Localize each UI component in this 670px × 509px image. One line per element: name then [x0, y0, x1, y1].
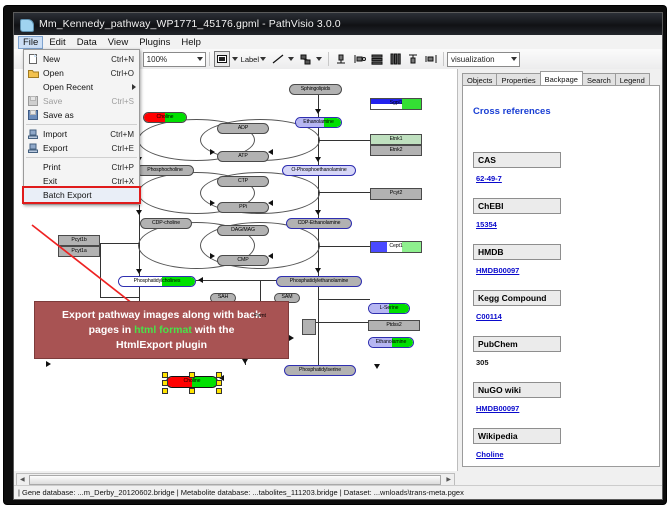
- pathvisio-icon: [20, 18, 33, 31]
- node-label: ADP: [238, 126, 248, 131]
- node-ppi[interactable]: PPi: [217, 202, 269, 213]
- node-label: Pemt: [254, 314, 266, 319]
- node-label: Pcyt2: [390, 191, 402, 196]
- window-title: Mm_Kennedy_pathway_WP1771_45176.gpml - P…: [39, 18, 341, 30]
- chevron-down-icon: [511, 57, 517, 61]
- node-label: CMP: [237, 258, 248, 263]
- node-pcyt2[interactable]: Pcyt2: [370, 188, 422, 200]
- xref-value-link[interactable]: Choline: [476, 450, 504, 459]
- menu-item-print[interactable]: Print Ctrl+P: [24, 160, 139, 174]
- menu-item-label: New: [43, 54, 111, 64]
- node-phosphatidylserine[interactable]: Phosphatidylserine: [284, 365, 356, 376]
- align-top-icon[interactable]: [333, 51, 349, 67]
- callout-line-2a: pages in: [89, 324, 135, 336]
- interaction-tool-icon[interactable]: [298, 51, 314, 67]
- annotation-callout: Export pathway images along with back pa…: [34, 301, 289, 359]
- selection-handle[interactable]: [162, 372, 168, 378]
- node-choline[interactable]: Choline: [143, 112, 187, 123]
- menu-item-label: Import: [43, 129, 110, 139]
- backpage-title: Cross references: [473, 106, 551, 117]
- xref-cas: CAS 62-49-7: [473, 152, 561, 186]
- tab-backpage[interactable]: Backpage: [540, 71, 583, 86]
- arrow-to-phosphatidylserine: [242, 359, 248, 364]
- node-atp[interactable]: ATP: [217, 151, 269, 162]
- xref-name: HMDB: [473, 244, 561, 260]
- arrow-ope-to-cdpetn: [315, 210, 321, 215]
- xref-name: Wikipedia: [473, 428, 561, 444]
- menu-plugins[interactable]: Plugins: [134, 36, 175, 49]
- node-ethanolamine-2[interactable]: Ethanolamine: [368, 337, 414, 348]
- menu-view[interactable]: View: [103, 36, 133, 49]
- xref-name: PubChem: [473, 336, 561, 352]
- node-label: Phosphatidylserine: [299, 368, 341, 373]
- node-label: Choline: [184, 379, 201, 384]
- arrow-pe-branch: [374, 364, 380, 369]
- window-outer-frame: Mm_Kennedy_pathway_WP1771_45176.gpml - P…: [4, 6, 666, 504]
- node-label: CTP: [238, 179, 248, 184]
- node-label: Ethanolamine: [376, 340, 407, 345]
- xref-value-link[interactable]: 15354: [476, 220, 497, 229]
- arrow-cdpetn-to-pe: [315, 268, 321, 273]
- node-label: Phosphatidylethanolamine: [290, 279, 348, 284]
- node-label: Sgpl1: [390, 101, 403, 106]
- blank-icon: [27, 82, 39, 93]
- status-bar-text: | Gene database: ...m_Derby_20120602.bri…: [18, 488, 464, 497]
- callout-line-3: HtmlExport plugin: [62, 338, 261, 353]
- arrow-into-ppi-left: [210, 200, 215, 206]
- node-label: Pcyt1b: [71, 238, 86, 243]
- label-tool-button[interactable]: Label: [241, 55, 259, 64]
- backpage-content: Cross references CAS 62-49-7 ChEBI 15354…: [462, 85, 660, 467]
- menu-data[interactable]: Data: [72, 36, 102, 49]
- status-bar: | Gene database: ...m_Derby_20120602.bri…: [14, 485, 663, 499]
- node-ptdss2[interactable]: Ptdss2: [368, 320, 420, 331]
- node-etnk2[interactable]: Etnk2: [370, 145, 422, 156]
- zoom-value: 100%: [147, 55, 167, 64]
- import-icon: [27, 129, 39, 140]
- blank-icon: [27, 176, 39, 187]
- selection-handle[interactable]: [216, 372, 222, 378]
- menu-item-accel: Ctrl+X: [112, 177, 136, 186]
- selection-handle[interactable]: [189, 388, 195, 394]
- visualization-combobox[interactable]: visualization: [447, 52, 520, 67]
- xref-wikipedia: Wikipedia Choline: [473, 428, 561, 462]
- menu-edit[interactable]: Edit: [44, 36, 70, 49]
- align-left-icon[interactable]: [351, 51, 367, 67]
- arrow-to-ethanolamine-2: [289, 335, 294, 341]
- node-o-phosphoethanolamine[interactable]: O-Phosphoethanolamine: [282, 165, 356, 176]
- export-icon: [27, 143, 39, 154]
- arrow-into-atp-left: [210, 149, 215, 155]
- node-label: L-Serine: [380, 306, 399, 311]
- node-etnk1[interactable]: Etnk1: [370, 134, 422, 145]
- submenu-arrow-icon: [132, 84, 136, 90]
- chevron-down-icon: [197, 57, 203, 61]
- node-cmp[interactable]: CMP: [217, 255, 269, 266]
- node-ctp[interactable]: CTP: [217, 176, 269, 187]
- xref-name: NuGO wiki: [473, 382, 561, 398]
- callout-html-format: html format: [134, 324, 192, 336]
- node-phosphocholine[interactable]: Phosphocholine: [136, 165, 194, 176]
- node-label: Etnk1: [390, 137, 403, 142]
- side-panel-tabs: Objects Properties Backpage Search Legen…: [462, 72, 660, 86]
- xref-value-text: 305: [476, 358, 489, 367]
- application-window: Mm_Kennedy_pathway_WP1771_45176.gpml - P…: [13, 12, 663, 500]
- file-menu-popup[interactable]: New Ctrl+N Open Ctrl+O Open Recent Save …: [23, 49, 140, 205]
- node-label: ATP: [238, 154, 247, 159]
- node-choline-selected[interactable]: Choline: [166, 376, 218, 388]
- stack-center-y-icon[interactable]: [387, 51, 403, 67]
- connector-sgpl1: [318, 140, 370, 141]
- selection-handle[interactable]: [216, 388, 222, 394]
- node-label: Ptdss2: [386, 323, 401, 328]
- xref-name: Kegg Compound: [473, 290, 561, 306]
- node-label: Choline: [157, 115, 174, 120]
- xref-value-link[interactable]: HMDB00097: [476, 266, 519, 275]
- node-adp[interactable]: ADP: [217, 123, 269, 134]
- selection-handle[interactable]: [162, 388, 168, 394]
- new-document-icon: [27, 54, 39, 65]
- menu-item-label: Open: [43, 68, 111, 78]
- menu-item-save-as[interactable]: Save as: [24, 108, 139, 122]
- zoom-combobox[interactable]: 100%: [143, 52, 206, 67]
- menu-item-exit[interactable]: Exit Ctrl+X: [24, 174, 139, 188]
- connector-etnk: [318, 192, 370, 193]
- selection-handle[interactable]: [162, 380, 168, 386]
- xref-chebi: ChEBI 15354: [473, 198, 561, 232]
- node-label: CDP-Ethanolamine: [298, 221, 341, 226]
- selection-handle[interactable]: [216, 380, 222, 386]
- node-cept1[interactable]: Cept1: [370, 241, 422, 253]
- callout-line-1: Export pathway images along with back: [62, 308, 261, 323]
- selection-handle[interactable]: [189, 372, 195, 378]
- screenshot-root: Mm_Kennedy_pathway_WP1771_45176.gpml - P…: [0, 0, 670, 509]
- menu-item-export[interactable]: Export Ctrl+E: [24, 141, 139, 155]
- menu-item-accel: Ctrl+O: [111, 69, 136, 78]
- menu-item-batch-export[interactable]: Batch Export: [24, 188, 139, 202]
- arrow-phosphocholine-to-cdpcholine: [136, 210, 142, 215]
- node-sphingolipids[interactable]: Sphingolipids: [289, 84, 342, 95]
- node-label: SAM: [282, 295, 293, 300]
- menu-item-accel: Ctrl+E: [112, 144, 136, 153]
- chevron-down-icon[interactable]: [232, 57, 238, 61]
- node-label: CDP-choline: [152, 221, 180, 226]
- menu-item-accel: Ctrl+N: [111, 55, 136, 64]
- align-right-icon[interactable]: [423, 51, 439, 67]
- xref-hmdb: HMDB HMDB00097: [473, 244, 561, 278]
- menu-item-label: Exit: [43, 176, 112, 186]
- scroll-right-arrow-icon[interactable]: ▶: [446, 476, 451, 483]
- chevron-down-icon[interactable]: [316, 57, 322, 61]
- blank-icon: [27, 190, 39, 201]
- menu-bar: File Edit Data View Plugins Help: [14, 35, 663, 50]
- arrow-to-ps: [46, 361, 51, 367]
- scrollbar-thumb[interactable]: [29, 475, 441, 485]
- save-icon: [27, 96, 39, 107]
- node-cdp-ethanolamine[interactable]: CDP-Ethanolamine: [286, 218, 352, 229]
- connector-ptdss2: [316, 322, 370, 323]
- xref-name: CAS: [473, 152, 561, 168]
- xref-value-link[interactable]: HMDB00097: [476, 404, 519, 413]
- xref-kegg-compound: Kegg Compound C00114: [473, 290, 561, 324]
- node-label: SAH: [218, 295, 228, 300]
- node-label: Sphingolipids: [301, 87, 331, 92]
- node-label: PPi: [239, 205, 247, 210]
- node-label: Phosphatidylcholines: [134, 279, 181, 284]
- chevron-down-icon[interactable]: [260, 57, 266, 61]
- title-bar: Mm_Kennedy_pathway_WP1771_45176.gpml - P…: [14, 13, 662, 35]
- node-sgpl1[interactable]: Sgpl1: [370, 98, 422, 110]
- node-ethanolamine-1[interactable]: Ethanolamine: [295, 117, 342, 128]
- xref-name: ChEBI: [473, 198, 561, 214]
- connector-pcyt2: [318, 246, 370, 247]
- menu-file[interactable]: File: [18, 36, 43, 49]
- menu-item-label: Batch Export: [43, 190, 136, 200]
- arrow-ethanolamine-to-ope: [315, 157, 321, 162]
- menu-item-open-recent[interactable]: Open Recent: [24, 80, 139, 94]
- menu-item-accel: Ctrl+M: [110, 130, 136, 139]
- callout-line-2c: with the: [192, 324, 235, 336]
- node-label: Etnk2: [390, 148, 403, 153]
- shape-tool-icon[interactable]: [214, 51, 230, 67]
- menu-item-import[interactable]: Import Ctrl+M: [24, 127, 139, 141]
- node-phosphatidylethanolamine[interactable]: Phosphatidylethanolamine: [276, 276, 362, 287]
- folder-open-icon: [27, 68, 39, 79]
- scroll-left-arrow-icon[interactable]: ◀: [20, 476, 25, 483]
- xref-value-link[interactable]: C00114: [476, 312, 502, 321]
- edge-pe-down: [318, 327, 319, 365]
- menu-item-accel: Ctrl+P: [112, 163, 136, 172]
- menu-item-new[interactable]: New Ctrl+N: [24, 52, 139, 66]
- chevron-down-icon[interactable]: [288, 57, 294, 61]
- visualization-value: visualization: [451, 55, 495, 64]
- arrow-sphingolipids-to-ethanolamine: [315, 109, 321, 114]
- node-dag-mag[interactable]: DAG/MAG: [217, 225, 269, 236]
- blank-icon: [27, 162, 39, 173]
- xref-value-link[interactable]: 62-49-7: [476, 174, 502, 183]
- node-label: Cept1: [389, 244, 402, 249]
- menu-item-save: Save Ctrl+S: [24, 94, 139, 108]
- menu-item-label: Save: [43, 96, 112, 106]
- side-panel: Objects Properties Backpage Search Legen…: [458, 69, 662, 471]
- menu-item-open[interactable]: Open Ctrl+O: [24, 66, 139, 80]
- menu-item-label: Print: [43, 162, 112, 172]
- node-label: Ethanolamine: [303, 120, 334, 125]
- stack-center-x-icon[interactable]: [369, 51, 385, 67]
- node-unlabeled-block[interactable]: [302, 319, 316, 335]
- menu-item-label: Export: [43, 143, 112, 153]
- menu-item-label: Save as: [43, 110, 134, 120]
- xref-nugo-wiki: NuGO wiki HMDB00097: [473, 382, 561, 416]
- menu-item-accel: Ctrl+S: [112, 97, 136, 106]
- menu-item-label: Open Recent: [43, 82, 132, 92]
- xref-pubchem: PubChem 305: [473, 336, 561, 370]
- align-bottom-icon[interactable]: [405, 51, 421, 67]
- menu-separator: [26, 157, 137, 158]
- save-as-icon: [27, 110, 39, 121]
- node-label: O-Phosphoethanolamine: [291, 168, 346, 173]
- menu-help[interactable]: Help: [176, 36, 206, 49]
- node-label: Pcyt1a: [71, 249, 86, 254]
- line-tool-icon[interactable]: [270, 51, 286, 67]
- callout-line-2: pages in html format with the: [62, 323, 261, 338]
- node-l-serine[interactable]: L-Serine: [368, 303, 410, 314]
- connector-cept1: [318, 299, 370, 300]
- menu-separator: [26, 124, 137, 125]
- node-label: DAG/MAG: [231, 228, 255, 233]
- node-label: Phosphocholine: [147, 168, 183, 173]
